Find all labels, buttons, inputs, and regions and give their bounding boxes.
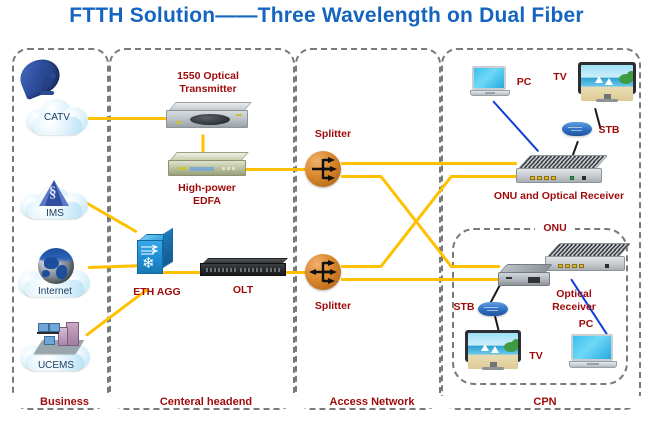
device-label-onu-top: ONU and Optical Receiver [469, 190, 649, 203]
link-splitter-top-out-1 [341, 162, 517, 165]
optical-splitter-icon-bottom [305, 254, 341, 290]
device-label-optical-receiver: Optical Receiver [536, 288, 612, 313]
cloud-label-internet: Internet [16, 286, 94, 297]
link-splitter-top-out-2a [341, 175, 382, 178]
link-catv-to-transmitter [88, 117, 172, 120]
cloud-catv: CATV [22, 95, 92, 137]
ethernet-switch-icon: ❄ [137, 234, 177, 278]
device-label-tv-top: TV [548, 71, 572, 84]
zone-access [295, 48, 441, 410]
set-top-box-icon-bottom [478, 302, 508, 316]
set-top-box-icon-top [562, 122, 592, 136]
globe-icon [38, 248, 74, 284]
edfa-amplifier-icon [168, 152, 246, 178]
laptop-icon-top [470, 66, 510, 96]
zone-label-headend: Centeral headend [109, 396, 303, 408]
television-icon-top [578, 62, 636, 104]
diagram-canvas: FTTH Solution——Three Wavelength on Dual … [0, 0, 653, 422]
device-label-pc-bottom: PC [574, 318, 598, 331]
device-label-splitter-bottom: Splitter [303, 300, 363, 313]
device-label-stb-bottom: STB [451, 301, 477, 314]
onu-router-icon-top [516, 155, 602, 185]
optical-splitter-icon-top [305, 151, 341, 187]
device-label-ethagg: ETH AGG [117, 286, 197, 299]
cloud-label-ucems: UCEMS [18, 360, 94, 371]
ims-pyramid-icon: § [38, 178, 72, 208]
page-title: FTTH Solution——Three Wavelength on Dual … [0, 4, 653, 28]
switch-pattern-icon: ❄ [142, 256, 155, 271]
device-label-tv-bottom: TV [524, 350, 548, 363]
link-splitter-bottom-out-2 [341, 278, 507, 281]
device-label-pc-top: PC [512, 76, 536, 89]
optical-receiver-icon [498, 264, 550, 290]
device-label-edfa: High-power EDFA [164, 182, 250, 207]
cloud-label-ims: IMS [18, 208, 92, 219]
link-splitter-bottom-out-1b [450, 175, 518, 178]
device-label-onu-bottom: ONU [535, 222, 575, 235]
optical-transmitter-icon [166, 102, 248, 130]
link-splitter-bottom-out-1a [341, 265, 382, 268]
link-splitter-top-out-2b [450, 265, 500, 268]
server-rack-icon [28, 320, 86, 356]
device-label-stb-top: STB [596, 124, 622, 137]
device-label-transmitter: 1550 Optical Transmitter [160, 70, 256, 95]
television-icon-bottom [465, 330, 521, 372]
zone-label-access: Access Network [295, 396, 449, 408]
device-label-olt: OLT [213, 284, 273, 297]
onu-router-icon-bottom [545, 243, 625, 273]
cloud-label-catv: CATV [22, 112, 92, 123]
zone-label-cpn: CPN [441, 396, 649, 408]
olt-chassis-icon [200, 258, 286, 280]
laptop-icon-bottom [569, 334, 617, 368]
switch-arrows-icon [140, 243, 160, 254]
zone-label-business: Business [12, 396, 117, 408]
satellite-dish-icon [18, 58, 66, 100]
device-label-splitter-top: Splitter [303, 128, 363, 141]
